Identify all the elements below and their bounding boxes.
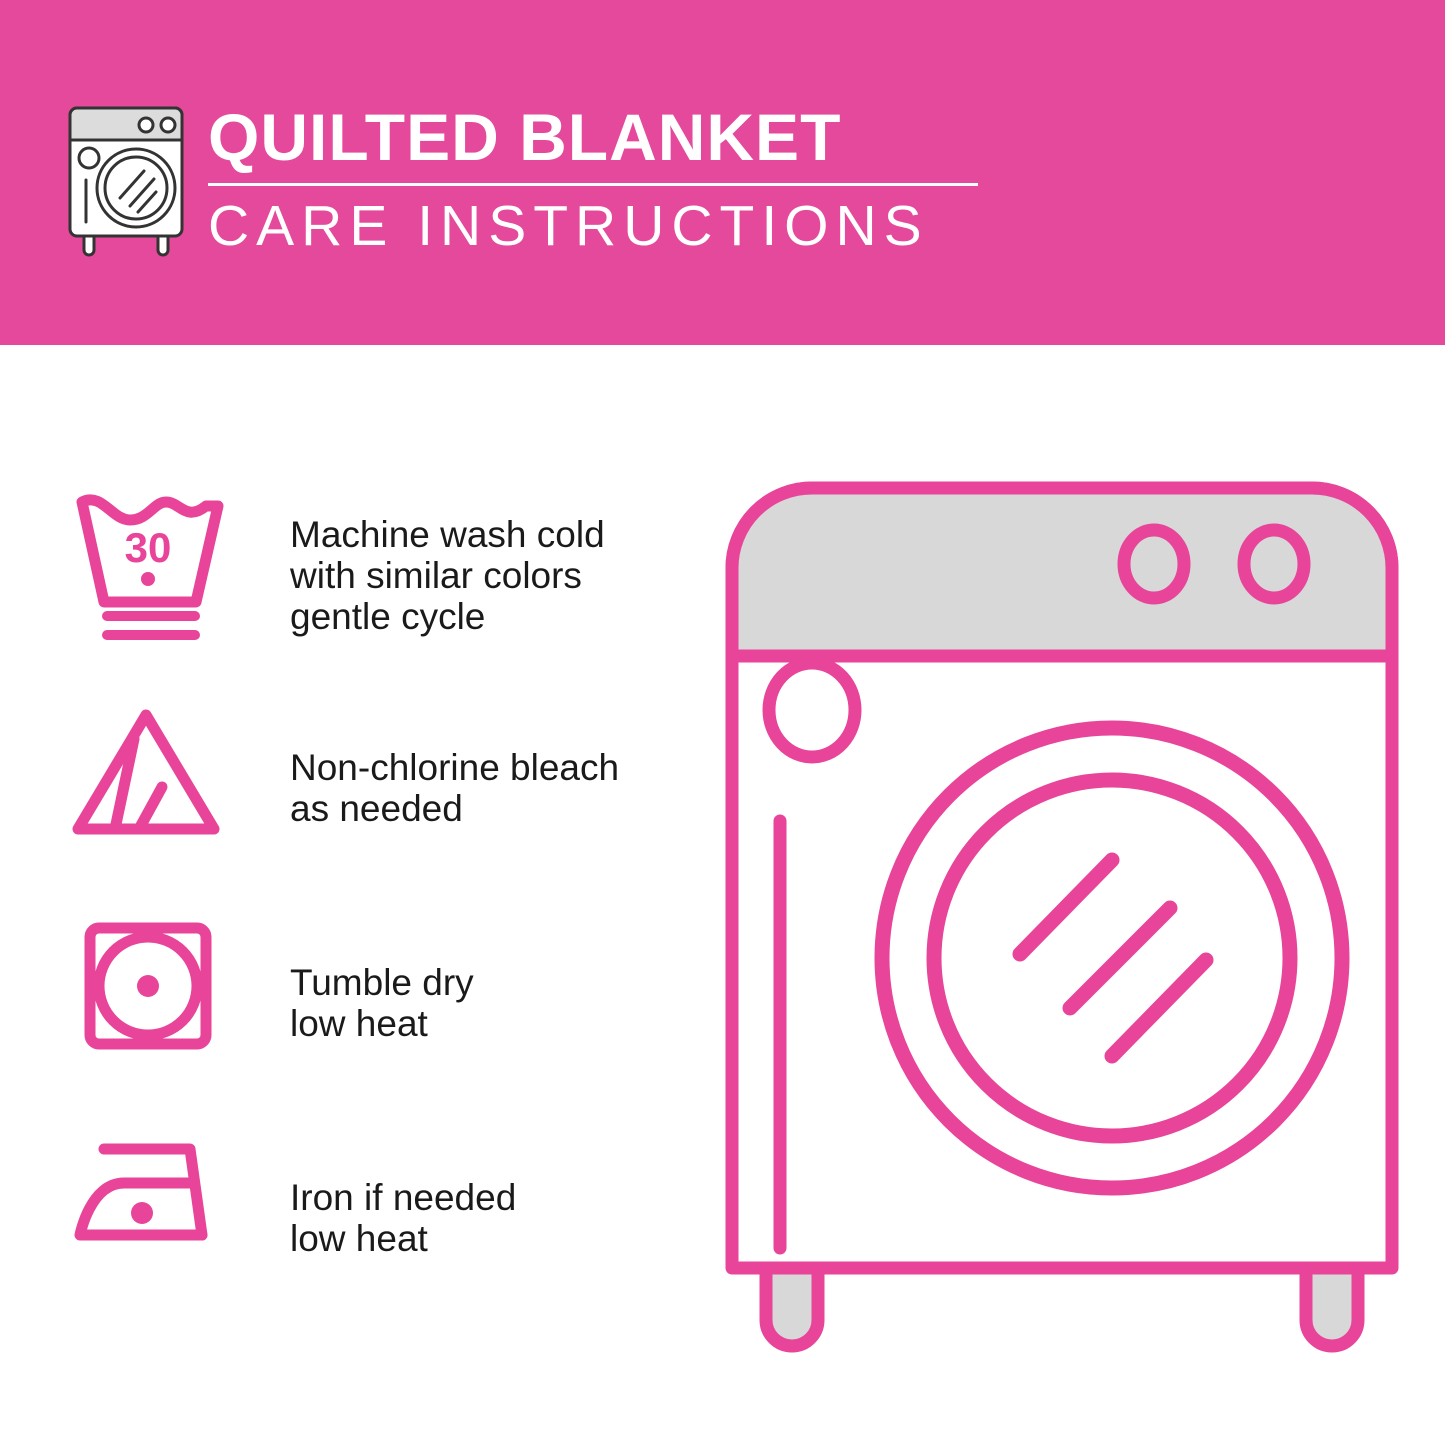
title-divider [208, 183, 978, 186]
care-line: low heat [290, 1218, 516, 1259]
large-washing-machine-illustration [722, 478, 1402, 1368]
tumble-dry-low-icon [68, 910, 238, 1075]
care-line: Tumble dry [290, 962, 474, 1003]
page-subtitle: CARE INSTRUCTIONS [208, 192, 1008, 260]
care-symbol-list: 30 Machine wash cold with similar colors… [0, 480, 700, 1340]
non-chlorine-bleach-icon [68, 695, 238, 860]
care-line: Machine wash cold [290, 514, 605, 555]
care-text-bleach: Non-chlorine bleach as needed [290, 747, 619, 829]
care-line: gentle cycle [290, 596, 605, 637]
header-banner: QUILTED BLANKET CARE INSTRUCTIONS [0, 0, 1445, 345]
care-instructions-infographic: QUILTED BLANKET CARE INSTRUCTIONS 30 [0, 0, 1445, 1445]
care-text-tumble-dry: Tumble dry low heat [290, 962, 474, 1044]
care-line: with similar colors [290, 555, 605, 596]
iron-low-heat-icon [68, 1125, 238, 1290]
care-line: Non-chlorine bleach [290, 747, 619, 788]
care-row-iron: Iron if needed low heat [0, 1125, 700, 1340]
care-row-tumble-dry: Tumble dry low heat [0, 910, 700, 1125]
header-text-block: QUILTED BLANKET CARE INSTRUCTIONS [208, 100, 1008, 260]
care-line: Iron if needed [290, 1177, 516, 1218]
care-row-machine-wash: 30 Machine wash cold with similar colors… [0, 480, 700, 695]
machine-wash-30-gentle-icon: 30 [68, 480, 238, 645]
care-line: as needed [290, 788, 619, 829]
page-title: QUILTED BLANKET [208, 100, 1008, 174]
machine-knob-2 [1244, 530, 1304, 598]
wash-temperature-label: 30 [125, 524, 172, 571]
care-text-iron: Iron if needed low heat [290, 1177, 516, 1259]
washing-machine-icon [58, 98, 198, 258]
machine-leg-right [1306, 1268, 1358, 1346]
care-row-bleach: Non-chlorine bleach as needed [0, 695, 700, 910]
care-text-machine-wash: Machine wash cold with similar colors ge… [290, 514, 605, 637]
machine-button [769, 663, 855, 757]
machine-knob-1 [1124, 530, 1184, 598]
machine-leg-left [766, 1268, 818, 1346]
care-line: low heat [290, 1003, 474, 1044]
